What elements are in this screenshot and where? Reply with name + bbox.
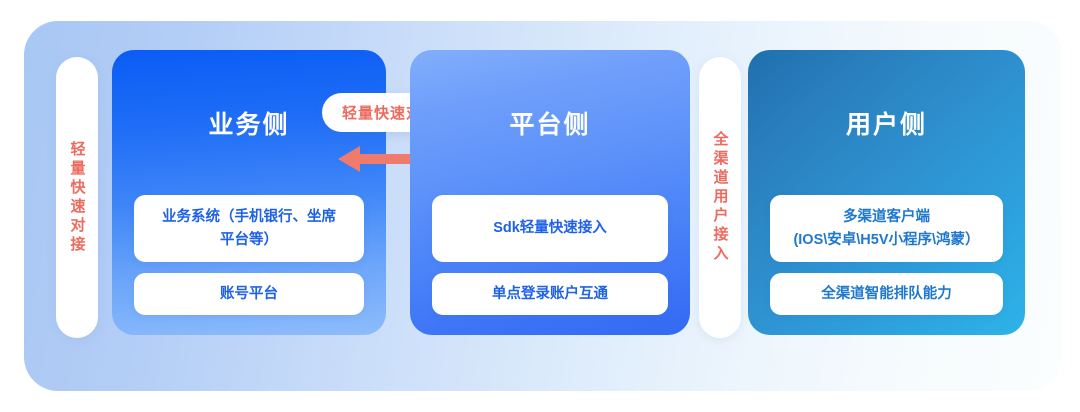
panel-platform-cards: Sdk轻量快速接入 单点登录账户互通 [432, 195, 668, 315]
card-line: 业务系统（手机银行、坐席 [162, 206, 336, 228]
panel-user-cards: 多渠道客户端 (IOS\安卓\H5V小程序\鸿蒙） 全渠道智能排队能力 [770, 195, 1003, 315]
diagram-canvas: 轻量快速对接 业务侧 业务系统（手机银行、坐席 平台等） 账号平台 轻量快速对接… [0, 0, 1080, 412]
right-vertical-pill-label: 全渠道用户接入 [713, 131, 728, 264]
right-vertical-pill: 全渠道用户接入 [699, 57, 741, 338]
card-line: 全渠道智能排队能力 [821, 283, 952, 305]
card-multichannel-client: 多渠道客户端 (IOS\安卓\H5V小程序\鸿蒙） [770, 195, 1003, 262]
card-line: Sdk轻量快速接入 [493, 217, 607, 239]
card-business-system: 业务系统（手机银行、坐席 平台等） [134, 195, 364, 262]
card-line: (IOS\安卓\H5V小程序\鸿蒙） [793, 229, 979, 251]
panel-platform: 平台侧 Sdk轻量快速接入 单点登录账户互通 [410, 50, 690, 335]
panel-platform-title: 平台侧 [410, 105, 690, 141]
panel-business-cards: 业务系统（手机银行、坐席 平台等） 账号平台 [134, 195, 364, 315]
card-line: 账号平台 [220, 283, 278, 305]
left-vertical-pill-label: 轻量快速对接 [70, 141, 85, 255]
card-sdk-access: Sdk轻量快速接入 [432, 195, 668, 262]
card-line: 多渠道客户端 [793, 206, 979, 228]
card-line: 平台等） [162, 229, 336, 251]
card-line: 单点登录账户互通 [492, 283, 608, 305]
card-account-platform: 账号平台 [134, 273, 364, 315]
panel-user: 用户侧 多渠道客户端 (IOS\安卓\H5V小程序\鸿蒙） 全渠道智能排队能力 [748, 50, 1025, 335]
panel-user-title: 用户侧 [748, 105, 1025, 141]
card-sso-account: 单点登录账户互通 [432, 273, 668, 315]
card-smart-queue: 全渠道智能排队能力 [770, 273, 1003, 315]
left-vertical-pill: 轻量快速对接 [56, 57, 98, 338]
